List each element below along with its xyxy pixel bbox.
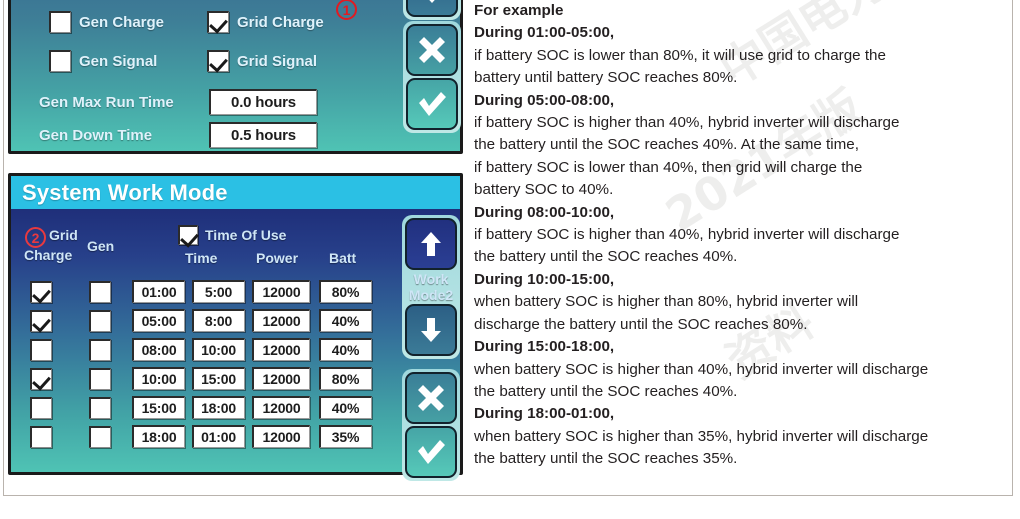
table-row: 10:0015:001200080% <box>11 364 401 393</box>
row-5-time-start-cell: 18:00 <box>129 425 188 448</box>
cancel-button[interactable] <box>406 24 458 76</box>
batt-column-header: Batt <box>329 250 356 266</box>
row-5-time-end-input[interactable]: 01:00 <box>192 425 245 448</box>
row-4-gen-cell <box>71 397 129 419</box>
work-mode-nav-shell: Work Mode2 <box>402 215 460 359</box>
grid-charge-column-label-line1: Grid <box>49 227 78 243</box>
row-2-gen-checkbox[interactable] <box>89 339 111 361</box>
row-3-power-cell: 12000 <box>248 367 314 390</box>
gen-signal-checkbox[interactable] <box>49 50 71 72</box>
row-3-time-end-input[interactable]: 15:00 <box>192 367 245 390</box>
arrow-down-icon <box>416 315 446 345</box>
system-work-mode-panel: System Work Mode 2 Grid Charge Gen Time … <box>8 173 463 475</box>
grid-charge-checkbox[interactable] <box>207 11 229 33</box>
row-4-grid-charge-cell <box>11 397 71 419</box>
row-2-batt-input[interactable]: 40% <box>319 338 372 361</box>
row-1-gen-checkbox[interactable] <box>89 310 111 332</box>
notes-line: when battery SOC is higher than 35%, hyb… <box>474 426 1012 448</box>
row-2-time-start-cell: 08:00 <box>129 338 188 361</box>
row-3-batt-cell: 80% <box>314 367 376 390</box>
row-0-gen-cell <box>71 281 129 303</box>
gen-down-time-label: Gen Down Time <box>39 127 209 144</box>
row-4-grid-charge-checkbox[interactable] <box>30 397 52 419</box>
row-0-time-end-cell: 5:00 <box>188 280 248 303</box>
row-3-batt-input[interactable]: 80% <box>319 367 372 390</box>
grid-signal-label: Grid Signal <box>237 53 317 70</box>
generator-settings-panel: Gen Charge Grid Charge 1 Gen Signal Grid… <box>8 0 463 154</box>
row-4-time-end-cell: 18:00 <box>188 396 248 419</box>
notes-line: if battery SOC is higher than 40%, hybri… <box>474 112 1012 134</box>
work-mode-side-label-line1: Work <box>405 272 457 287</box>
grid-signal-checkbox-row[interactable]: Grid Signal <box>207 50 317 72</box>
power-column-header: Power <box>256 250 298 266</box>
row-5-batt-cell: 35% <box>314 425 376 448</box>
row-2-grid-charge-checkbox[interactable] <box>30 339 52 361</box>
row-5-power-input[interactable]: 12000 <box>252 425 310 448</box>
notes-heading: During 01:00-05:00, <box>474 22 1012 44</box>
notes-line: the battery until the SOC reaches 35%. <box>474 448 1012 470</box>
row-1-grid-charge-checkbox[interactable] <box>30 310 52 332</box>
gen-max-run-time-row: Gen Max Run Time 0.0 hours <box>39 89 317 115</box>
row-1-time-start-input[interactable]: 05:00 <box>132 309 185 332</box>
notes-line: if battery SOC is lower than 80%, it wil… <box>474 45 1012 67</box>
notes-line: when battery SOC is higher than 40%, hyb… <box>474 359 1012 381</box>
row-2-grid-charge-cell <box>11 339 71 361</box>
time-of-use-row[interactable]: Time Of Use <box>178 225 286 245</box>
row-0-time-start-cell: 01:00 <box>129 280 188 303</box>
row-0-time-end-input[interactable]: 5:00 <box>192 280 245 303</box>
row-1-time-end-cell: 8:00 <box>188 309 248 332</box>
work-mode-side-label-line2: Mode2 <box>405 288 457 303</box>
row-2-time-end-input[interactable]: 10:00 <box>192 338 245 361</box>
gen-max-run-time-label: Gen Max Run Time <box>39 94 209 111</box>
row-0-power-input[interactable]: 12000 <box>252 280 310 303</box>
gen-charge-checkbox-row[interactable]: Gen Charge <box>49 11 164 33</box>
work-mode-confirm-button[interactable] <box>405 426 457 478</box>
row-2-time-start-input[interactable]: 08:00 <box>132 338 185 361</box>
grid-charge-label: Grid Charge <box>237 14 324 31</box>
row-1-batt-input[interactable]: 40% <box>319 309 372 332</box>
gen-action-shell <box>403 21 461 133</box>
row-5-time-start-input[interactable]: 18:00 <box>132 425 185 448</box>
check-icon <box>415 437 447 467</box>
grid-charge-column-label-line2: Charge <box>24 247 72 263</box>
row-1-batt-cell: 40% <box>314 309 376 332</box>
notes-heading: During 05:00-08:00, <box>474 90 1012 112</box>
row-3-power-input[interactable]: 12000 <box>252 367 310 390</box>
row-2-gen-cell <box>71 339 129 361</box>
down-arrow-button[interactable] <box>406 0 458 17</box>
gen-charge-label: Gen Charge <box>79 14 164 31</box>
row-1-gen-cell <box>71 310 129 332</box>
gen-scroll-shell <box>403 0 461 20</box>
notes-line: when battery SOC is higher than 80%, hyb… <box>474 291 1012 313</box>
time-column-header: Time <box>185 250 217 266</box>
row-0-gen-checkbox[interactable] <box>89 281 111 303</box>
gen-max-run-time-input[interactable]: 0.0 hours <box>209 89 317 115</box>
notes-heading: During 18:00-01:00, <box>474 403 1012 425</box>
row-0-grid-charge-cell <box>11 281 71 303</box>
row-2-power-input[interactable]: 12000 <box>252 338 310 361</box>
row-4-time-end-input[interactable]: 18:00 <box>192 396 245 419</box>
row-0-batt-input[interactable]: 80% <box>319 280 372 303</box>
row-4-batt-cell: 40% <box>314 396 376 419</box>
row-4-time-start-input[interactable]: 15:00 <box>132 396 185 419</box>
notes-heading: During 10:00-15:00, <box>474 269 1012 291</box>
row-1-power-input[interactable]: 12000 <box>252 309 310 332</box>
gen-signal-checkbox-row[interactable]: Gen Signal <box>49 50 157 72</box>
notes-line: the battery until the SOC reaches 40%. <box>474 381 1012 403</box>
row-0-grid-charge-checkbox[interactable] <box>30 281 52 303</box>
row-4-gen-checkbox[interactable] <box>89 397 111 419</box>
table-row: 08:0010:001200040% <box>11 335 401 364</box>
row-4-time-start-cell: 15:00 <box>129 396 188 419</box>
work-mode-action-shell <box>402 369 460 481</box>
row-5-gen-cell <box>71 426 129 448</box>
system-work-mode-header: System Work Mode <box>11 176 460 209</box>
gen-down-time-input[interactable]: 0.5 hours <box>209 122 317 148</box>
row-2-time-end-cell: 10:00 <box>188 338 248 361</box>
row-2-power-cell: 12000 <box>248 338 314 361</box>
check-icon <box>416 89 448 119</box>
callout-badge-2: 2 <box>25 227 46 248</box>
gen-charge-checkbox[interactable] <box>49 11 71 33</box>
work-mode-up-button[interactable] <box>405 218 457 270</box>
arrow-up-icon <box>416 229 446 259</box>
notes-line: the battery until the SOC reaches 40%. <box>474 246 1012 268</box>
gen-column-label: Gen <box>87 238 114 254</box>
row-0-batt-cell: 80% <box>314 280 376 303</box>
row-5-time-end-cell: 01:00 <box>188 425 248 448</box>
time-of-use-label: Time Of Use <box>205 227 286 243</box>
row-4-batt-input[interactable]: 40% <box>319 396 372 419</box>
row-3-time-start-input[interactable]: 10:00 <box>132 367 185 390</box>
work-mode-nav-buttons: Work Mode2 <box>399 212 463 362</box>
row-3-grid-charge-cell <box>11 368 71 390</box>
time-of-use-checkbox[interactable] <box>178 225 198 245</box>
row-5-batt-input[interactable]: 35% <box>319 425 372 448</box>
arrow-down-icon <box>417 0 447 6</box>
row-1-grid-charge-cell <box>11 310 71 332</box>
notes-line: if battery SOC is higher than 40%, hybri… <box>474 224 1012 246</box>
notes-title: For example <box>474 0 1012 22</box>
row-4-power-input[interactable]: 12000 <box>252 396 310 419</box>
confirm-button[interactable] <box>406 78 458 130</box>
row-3-gen-cell <box>71 368 129 390</box>
row-5-grid-charge-checkbox[interactable] <box>30 426 52 448</box>
work-mode-schedule-table: 01:005:001200080%05:008:001200040%08:001… <box>11 277 401 451</box>
row-1-power-cell: 12000 <box>248 309 314 332</box>
row-0-time-start-input[interactable]: 01:00 <box>132 280 185 303</box>
row-4-power-cell: 12000 <box>248 396 314 419</box>
table-row: 01:005:001200080% <box>11 277 401 306</box>
notes-heading: During 15:00-18:00, <box>474 336 1012 358</box>
cross-icon <box>417 35 447 65</box>
table-row: 15:0018:001200040% <box>11 393 401 422</box>
notes-heading: During 08:00-10:00, <box>474 202 1012 224</box>
grid-charge-checkbox-row[interactable]: Grid Charge <box>207 11 324 33</box>
notes-line: battery until battery SOC reaches 80%. <box>474 67 1012 89</box>
notes-line: if battery SOC is lower than 40%, then g… <box>474 157 1012 179</box>
system-work-mode-title: System Work Mode <box>22 180 228 206</box>
row-3-time-start-cell: 10:00 <box>129 367 188 390</box>
work-mode-down-button[interactable] <box>405 304 457 356</box>
callout-badge-1: 1 <box>336 0 357 20</box>
row-1-time-start-cell: 05:00 <box>129 309 188 332</box>
row-1-time-end-input[interactable]: 8:00 <box>192 309 245 332</box>
notes-line: battery SOC to 40%. <box>474 179 1012 201</box>
table-row: 18:0001:001200035% <box>11 422 401 451</box>
row-5-power-cell: 12000 <box>248 425 314 448</box>
row-0-power-cell: 12000 <box>248 280 314 303</box>
row-3-gen-checkbox[interactable] <box>89 368 111 390</box>
work-mode-action-buttons <box>399 366 463 484</box>
row-3-time-end-cell: 15:00 <box>188 367 248 390</box>
grid-signal-checkbox[interactable] <box>207 50 229 72</box>
table-row: 05:008:001200040% <box>11 306 401 335</box>
notes-line: the battery until the SOC reaches 40%. A… <box>474 134 1012 156</box>
gen-signal-label: Gen Signal <box>79 53 157 70</box>
cross-icon <box>416 383 446 413</box>
gen-down-time-row: Gen Down Time 0.5 hours <box>39 122 317 148</box>
row-2-batt-cell: 40% <box>314 338 376 361</box>
row-5-gen-checkbox[interactable] <box>89 426 111 448</box>
notes-line: discharge the battery until the SOC reac… <box>474 314 1012 336</box>
work-mode-cancel-button[interactable] <box>405 372 457 424</box>
gen-panel-action-buttons <box>400 18 464 136</box>
row-3-grid-charge-checkbox[interactable] <box>30 368 52 390</box>
example-notes: 中国电力科学 2021年版 资料 For exampleDuring 01:00… <box>474 0 1012 471</box>
row-5-grid-charge-cell <box>11 426 71 448</box>
